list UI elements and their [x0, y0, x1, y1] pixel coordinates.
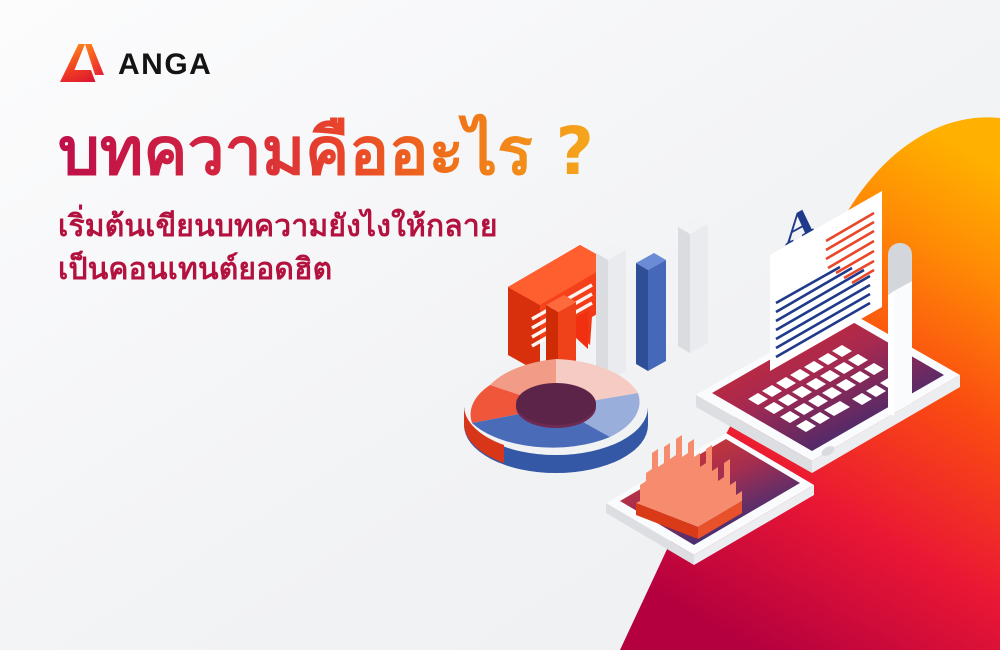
- headline-text: บทความคืออะไร ?: [58, 113, 594, 190]
- bar-4: [678, 217, 708, 353]
- page-title: บทความคืออะไร ?: [58, 108, 698, 194]
- hero-banner: ANGA บทความคืออะไร ? เริ่มต้นเขียนบทความ…: [0, 0, 1000, 650]
- bar-3: [636, 253, 666, 371]
- bar-2: [596, 243, 626, 381]
- bookmark-flag-icon: [888, 243, 912, 416]
- hero-illustration: A: [440, 185, 960, 605]
- brand-wordmark: ANGA: [118, 50, 212, 80]
- tablet-keyboard-document[interactable]: A: [696, 191, 960, 473]
- anga-a-mark-icon: [58, 42, 106, 88]
- brand-logo[interactable]: ANGA: [58, 42, 212, 88]
- donut-chart-3d: [464, 359, 648, 473]
